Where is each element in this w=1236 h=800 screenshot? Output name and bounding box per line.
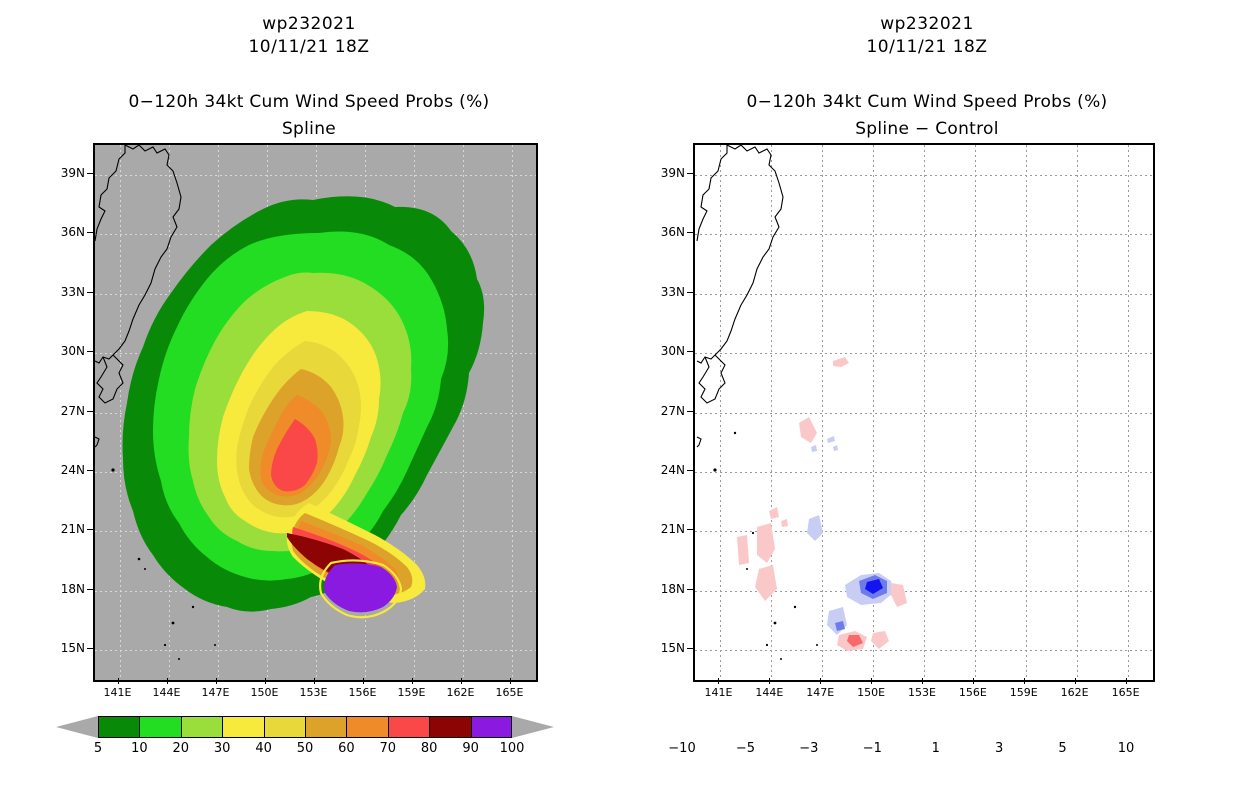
- y-axis-label: 33N: [41, 285, 85, 299]
- gridline-horizontal: [695, 353, 1153, 354]
- gridline-horizontal: [95, 531, 536, 532]
- y-axis-label: 33N: [641, 285, 685, 299]
- colorbar-tick-label: 30: [214, 741, 231, 756]
- x-axis-label: 150E: [251, 686, 279, 699]
- gridline-horizontal: [695, 591, 1153, 592]
- gridline-horizontal: [95, 591, 536, 592]
- y-axis-label: 30N: [41, 344, 85, 358]
- colorbar-tick-label: −10: [668, 741, 695, 756]
- y-axis-label: 18N: [641, 582, 685, 596]
- colorbar-segment[interactable]: [98, 716, 139, 738]
- x-axis-label: 156E: [349, 686, 377, 699]
- gridline-horizontal: [95, 353, 536, 354]
- y-tickmark: [687, 589, 693, 590]
- colorbar-tick-label: −3: [799, 741, 818, 756]
- colorbar-tick-label: 60: [338, 741, 355, 756]
- colorbar-high-cap: [512, 716, 554, 738]
- x-axis-label: 162E: [447, 686, 475, 699]
- x-tickmark: [314, 678, 315, 684]
- colorbar-tick-label: 10: [1118, 741, 1135, 756]
- colorbar-segment[interactable]: [429, 716, 470, 738]
- datetime-left: 10/11/21 18Z: [0, 37, 618, 57]
- y-axis-label: 36N: [41, 225, 85, 239]
- x-axis-label: 165E: [496, 686, 524, 699]
- y-tickmark: [687, 648, 693, 649]
- y-tickmark: [687, 351, 693, 352]
- gridline-horizontal: [95, 650, 536, 651]
- gridline-horizontal: [95, 175, 536, 176]
- y-axis-label: 21N: [41, 522, 85, 536]
- colorbar-tick-label: 5: [1058, 741, 1066, 756]
- x-tickmark: [412, 678, 413, 684]
- x-tickmark: [769, 678, 770, 684]
- gridline-horizontal: [695, 472, 1153, 473]
- y-tickmark: [687, 529, 693, 530]
- y-tickmark: [87, 589, 93, 590]
- gridline-horizontal: [695, 650, 1153, 651]
- colorbar-segment[interactable]: [346, 716, 387, 738]
- gridline-horizontal: [95, 472, 536, 473]
- y-axis-label: 21N: [641, 522, 685, 536]
- y-tickmark: [687, 232, 693, 233]
- y-axis-label: 15N: [641, 641, 685, 655]
- x-tickmark: [363, 678, 364, 684]
- x-axis-label: 159E: [1010, 686, 1038, 699]
- x-tickmark: [118, 678, 119, 684]
- colorbar-tick-label: 90: [462, 741, 479, 756]
- y-tickmark: [87, 648, 93, 649]
- y-tickmark: [87, 232, 93, 233]
- gridline-horizontal: [695, 294, 1153, 295]
- chart-subtitle-left: Spline: [0, 119, 618, 139]
- y-axis-label: 30N: [641, 344, 685, 358]
- y-tickmark: [87, 173, 93, 174]
- gridline-horizontal: [695, 413, 1153, 414]
- y-axis-label: 39N: [641, 166, 685, 180]
- y-axis-label: 15N: [41, 641, 85, 655]
- map-plot-spline[interactable]: [93, 143, 538, 682]
- y-axis-label: 27N: [641, 404, 685, 418]
- x-axis-label: 144E: [153, 686, 181, 699]
- y-axis-label: 27N: [41, 404, 85, 418]
- x-tickmark: [820, 678, 821, 684]
- y-tickmark: [687, 411, 693, 412]
- chart-subtitle-right: Spline − Control: [618, 119, 1236, 139]
- colorbar-segment[interactable]: [388, 716, 429, 738]
- colorbar-tick-label: 10: [131, 741, 148, 756]
- colorbar-tick-label: −1: [863, 741, 882, 756]
- x-tickmark: [216, 678, 217, 684]
- y-tickmark: [87, 292, 93, 293]
- colorbar-segment[interactable]: [222, 716, 263, 738]
- y-tickmark: [87, 529, 93, 530]
- colorbar-segment[interactable]: [139, 716, 180, 738]
- colorbar-segment[interactable]: [181, 716, 222, 738]
- x-axis-label: 153E: [300, 686, 328, 699]
- y-tickmark: [687, 470, 693, 471]
- map-plot-spline-control[interactable]: [693, 143, 1155, 682]
- x-tickmark: [922, 678, 923, 684]
- colorbar-tick-label: 80: [421, 741, 438, 756]
- gridlines-left: [95, 145, 536, 680]
- x-tickmark: [718, 678, 719, 684]
- chart-title-right: 0−120h 34kt Cum Wind Speed Probs (%): [618, 92, 1236, 112]
- y-axis-label: 24N: [41, 463, 85, 477]
- x-axis-label: 159E: [398, 686, 426, 699]
- gridline-horizontal: [95, 234, 536, 235]
- x-tickmark: [265, 678, 266, 684]
- colorbar-segment[interactable]: [305, 716, 346, 738]
- colorbar-segment[interactable]: [471, 716, 512, 738]
- gridlines-right: [695, 145, 1153, 680]
- x-axis-label: 162E: [1061, 686, 1089, 699]
- gridline-horizontal: [695, 234, 1153, 235]
- colorbar-spline[interactable]: [98, 716, 512, 738]
- colorbar-low-cap: [56, 716, 98, 738]
- gridline-horizontal: [95, 294, 536, 295]
- gridline-horizontal: [695, 175, 1153, 176]
- y-tickmark: [87, 470, 93, 471]
- x-axis-label: 153E: [908, 686, 936, 699]
- x-axis-label: 147E: [202, 686, 230, 699]
- x-axis-label: 141E: [104, 686, 132, 699]
- panel-spline-control: wp232021 10/11/21 18Z 0−120h 34kt Cum Wi…: [618, 0, 1236, 800]
- y-tickmark: [87, 351, 93, 352]
- colorbar-tick-label: 3: [995, 741, 1003, 756]
- y-axis-label: 36N: [641, 225, 685, 239]
- storm-id-right: wp232021: [618, 14, 1236, 34]
- x-tickmark: [871, 678, 872, 684]
- x-tickmark: [1024, 678, 1025, 684]
- x-axis-label: 144E: [755, 686, 783, 699]
- x-axis-label: 147E: [806, 686, 834, 699]
- x-tickmark: [510, 678, 511, 684]
- x-tickmark: [973, 678, 974, 684]
- x-axis-label: 156E: [959, 686, 987, 699]
- x-tickmark: [1075, 678, 1076, 684]
- x-axis-label: 165E: [1112, 686, 1140, 699]
- colorbar-tick-label: −5: [736, 741, 755, 756]
- x-tickmark: [167, 678, 168, 684]
- y-axis-label: 39N: [41, 166, 85, 180]
- storm-id-left: wp232021: [0, 14, 618, 34]
- panel-spline: wp232021 10/11/21 18Z 0−120h 34kt Cum Wi…: [0, 0, 618, 800]
- colorbar-tick-label: 100: [500, 741, 525, 756]
- colorbar-tick-label: 40: [255, 741, 272, 756]
- colorbar-tick-label: 20: [173, 741, 190, 756]
- x-tickmark: [1126, 678, 1127, 684]
- chart-title-left: 0−120h 34kt Cum Wind Speed Probs (%): [0, 92, 618, 112]
- gridline-horizontal: [695, 531, 1153, 532]
- y-tickmark: [687, 173, 693, 174]
- gridline-horizontal: [95, 413, 536, 414]
- colorbar-tick-label: 70: [380, 741, 397, 756]
- colorbar-segment[interactable]: [264, 716, 305, 738]
- x-tickmark: [461, 678, 462, 684]
- y-tickmark: [87, 411, 93, 412]
- colorbar-tick-label: 50: [297, 741, 314, 756]
- y-axis-label: 24N: [641, 463, 685, 477]
- colorbar-tick-label: 1: [932, 741, 940, 756]
- datetime-right: 10/11/21 18Z: [618, 37, 1236, 57]
- colorbar-tick-label: 5: [94, 741, 102, 756]
- x-axis-label: 150E: [857, 686, 885, 699]
- x-axis-label: 141E: [704, 686, 732, 699]
- y-axis-label: 18N: [41, 582, 85, 596]
- y-tickmark: [687, 292, 693, 293]
